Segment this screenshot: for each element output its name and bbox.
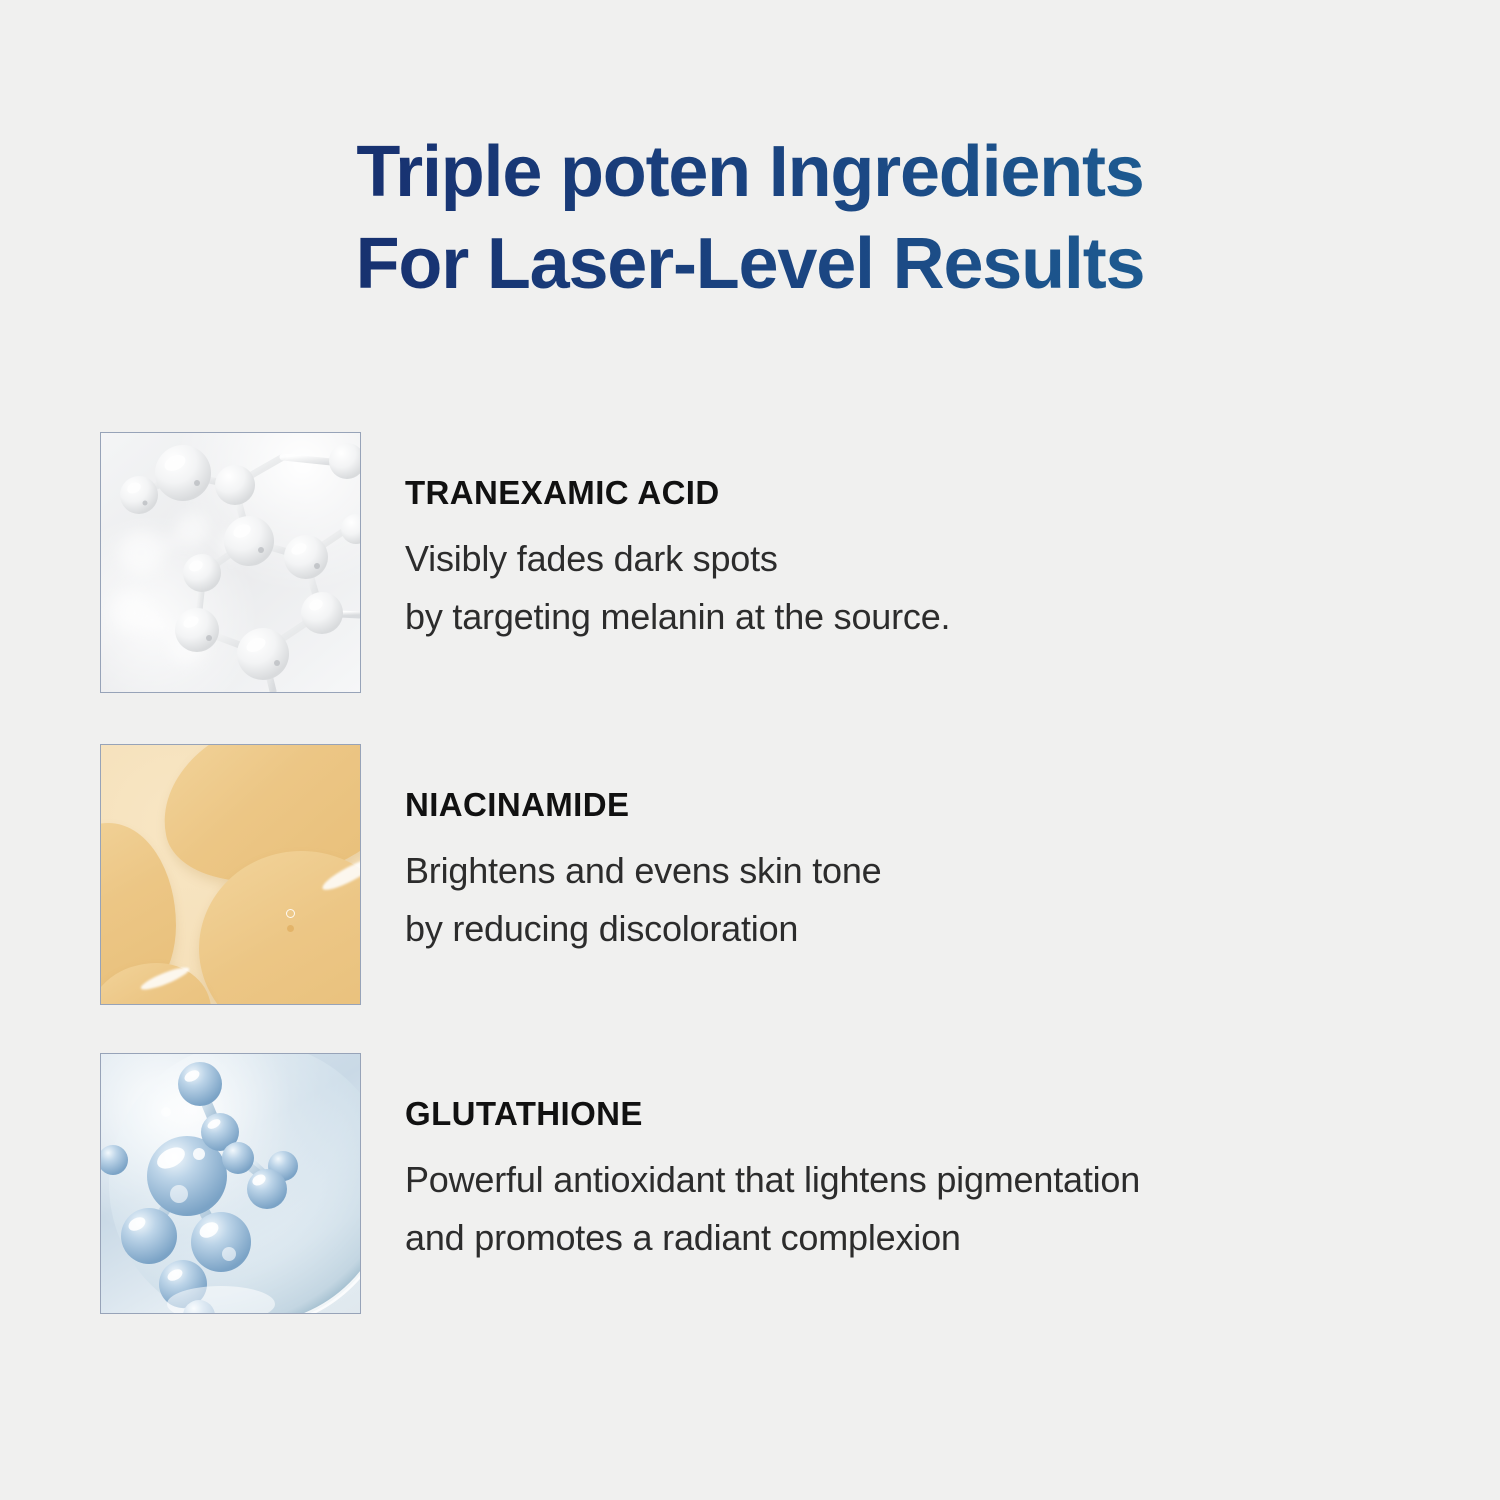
ingredient-name: GLUTATHIONE (405, 1095, 1140, 1133)
ingredient-text: NIACINAMIDE Brightens and evens skin ton… (405, 744, 882, 958)
list-item: TRANEXAMIC ACID Visibly fades dark spots… (100, 432, 1440, 693)
ingredient-text: TRANEXAMIC ACID Visibly fades dark spots… (405, 432, 950, 646)
list-item: GLUTATHIONE Powerful antioxidant that li… (100, 1053, 1440, 1314)
blue-molecule-droplet-photo (100, 1053, 361, 1314)
drop-bubble (287, 925, 294, 932)
ingredient-name: NIACINAMIDE (405, 786, 882, 824)
ingredient-description: Brightens and evens skin tone by reducin… (405, 842, 882, 958)
white-molecule-lattice-photo (100, 432, 361, 693)
ingredient-description: Powerful antioxidant that lightens pigme… (405, 1151, 1140, 1267)
ingredient-description: Visibly fades dark spots by targeting me… (405, 530, 950, 646)
ingredient-name: TRANEXAMIC ACID (405, 474, 950, 512)
list-item: NIACINAMIDE Brightens and evens skin ton… (100, 744, 1440, 1005)
ingredient-text: GLUTATHIONE Powerful antioxidant that li… (405, 1053, 1140, 1267)
drop-bubble (286, 909, 295, 918)
ingredient-list: TRANEXAMIC ACID Visibly fades dark spots… (0, 0, 1500, 1500)
golden-serum-droplets-photo (100, 744, 361, 1005)
